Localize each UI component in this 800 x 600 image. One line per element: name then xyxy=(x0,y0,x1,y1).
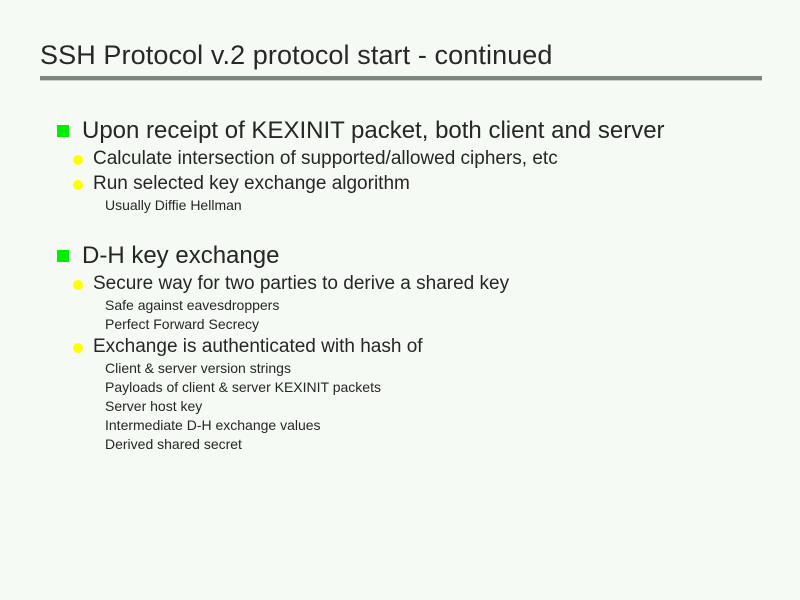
bullet-level2-label: Secure way for two parties to derive a s… xyxy=(93,273,509,294)
bullet-level2-label: Run selected key exchange algorithm xyxy=(93,173,410,194)
bullet-level2-label: Calculate intersection of supported/allo… xyxy=(93,148,558,169)
bullet-level3-item: Safe against eavesdroppers xyxy=(0,296,800,315)
dot-bullet-icon xyxy=(73,155,83,165)
bullet-level3-item: Intermediate D-H exchange values xyxy=(0,416,800,435)
bullet-level2-label: Exchange is authenticated with hash of xyxy=(93,336,423,357)
dot-bullet-icon xyxy=(73,343,83,353)
presentation-slide: SSH Protocol v.2 protocol start - contin… xyxy=(0,0,800,600)
bullet-level2-item: Exchange is authenticated with hash of xyxy=(0,334,800,359)
bullet-level3-item: Client & server version strings xyxy=(0,359,800,378)
bullet-level3-item: Server host key xyxy=(0,397,800,416)
dot-bullet-icon xyxy=(73,280,83,290)
bullet-level2-item: Run selected key exchange algorithm xyxy=(0,171,800,196)
bullet-section: Upon receipt of KEXINIT packet, both cli… xyxy=(0,116,800,215)
bullet-level3-item: Payloads of client & server KEXINIT pack… xyxy=(0,378,800,397)
bullet-level1-label: D-H key exchange xyxy=(82,242,279,269)
bullet-level3-item: Perfect Forward Secrecy xyxy=(0,315,800,334)
bullet-level3-item: Derived shared secret xyxy=(0,435,800,454)
slide-title-block: SSH Protocol v.2 protocol start - contin… xyxy=(40,38,762,81)
bullet-level1-item: Upon receipt of KEXINIT packet, both cli… xyxy=(0,116,800,146)
bullet-level1-label: Upon receipt of KEXINIT packet, both cli… xyxy=(82,117,665,144)
square-bullet-icon xyxy=(57,125,69,137)
dot-bullet-icon xyxy=(73,180,83,190)
bullet-section: D-H key exchange Secure way for two part… xyxy=(0,241,800,454)
page-title: SSH Protocol v.2 protocol start - contin… xyxy=(40,38,762,72)
bullet-level1-item: D-H key exchange xyxy=(0,241,800,271)
title-divider xyxy=(40,76,762,81)
bullet-level3-item: Usually Diffie Hellman xyxy=(0,196,800,215)
bullet-level2-item: Calculate intersection of supported/allo… xyxy=(0,146,800,171)
section-spacer xyxy=(0,215,800,241)
slide-body: Upon receipt of KEXINIT packet, both cli… xyxy=(0,116,800,454)
square-bullet-icon xyxy=(57,250,69,262)
bullet-level2-item: Secure way for two parties to derive a s… xyxy=(0,271,800,296)
